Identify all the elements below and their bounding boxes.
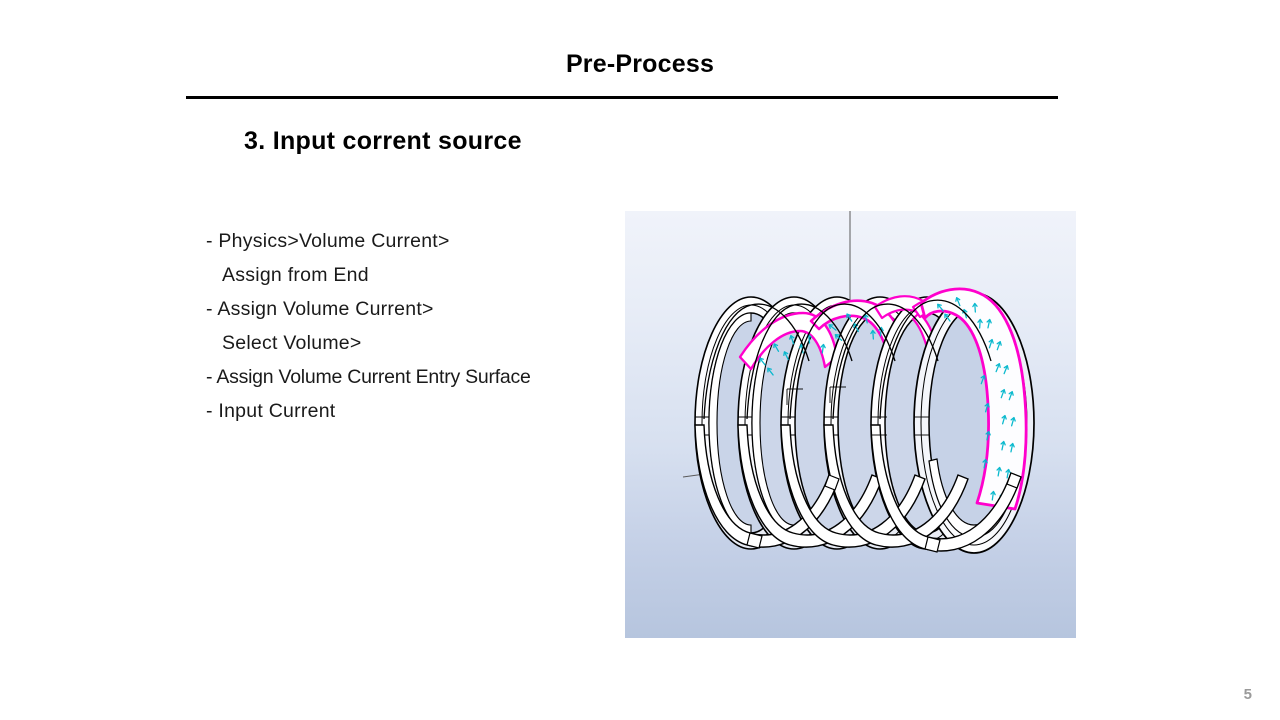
cad-viewport[interactable] — [625, 211, 1076, 638]
instruction-list: - Physics>Volume Current> Assign from En… — [206, 224, 626, 428]
list-item: - Assign Volume Current Entry Surface — [206, 360, 626, 394]
slide-canvas: Pre-Process 3. Input corrent source - Ph… — [0, 0, 1280, 720]
list-item: Assign from End — [206, 258, 626, 292]
list-item: - Input Current — [206, 394, 626, 428]
list-item: Select Volume> — [206, 326, 626, 360]
coil-model-graphic — [625, 211, 1076, 638]
page-title: Pre-Process — [0, 52, 1280, 77]
list-item: - Assign Volume Current> — [206, 292, 626, 326]
section-heading: 3. Input corrent source — [244, 126, 522, 156]
page-number: 5 — [1244, 687, 1252, 702]
title-divider — [186, 96, 1058, 99]
list-item: - Physics>Volume Current> — [206, 224, 626, 258]
